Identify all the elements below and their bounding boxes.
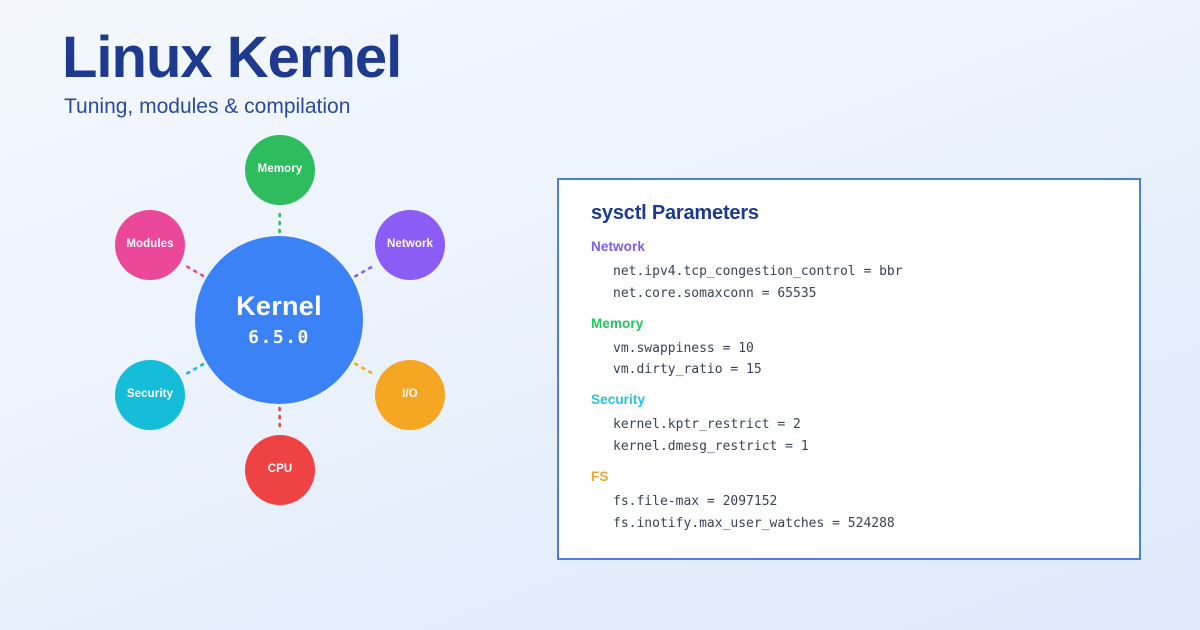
sysctl-group-name: Network: [591, 239, 1111, 254]
edge-modules: [184, 265, 203, 276]
edge-i-o: [355, 364, 376, 376]
center-node-label: Kernel: [236, 292, 322, 322]
sysctl-groups: Networknet.ipv4.tcp_congestion_control =…: [591, 239, 1111, 535]
node-label: I/O: [399, 388, 421, 401]
sysctl-parameter-line: vm.swappiness = 10: [613, 338, 1111, 360]
node-security[interactable]: Security: [115, 360, 185, 430]
sysctl-group-lines: vm.swappiness = 10vm.dirty_ratio = 15: [591, 338, 1111, 382]
node-label: CPU: [265, 463, 296, 476]
kernel-node-diagram: Kernel 6.5.0 MemoryNetworkI/OCPUSecurity…: [60, 128, 500, 528]
node-modules[interactable]: Modules: [115, 210, 185, 280]
node-network[interactable]: Network: [375, 210, 445, 280]
sysctl-panel: sysctl Parameters Networknet.ipv4.tcp_co…: [557, 178, 1141, 560]
sysctl-group-name: FS: [591, 469, 1111, 484]
sysctl-group: Networknet.ipv4.tcp_congestion_control =…: [591, 239, 1111, 305]
node-cpu[interactable]: CPU: [245, 435, 315, 505]
sysctl-group-lines: fs.file-max = 2097152fs.inotify.max_user…: [591, 491, 1111, 535]
node-kernel-center[interactable]: Kernel 6.5.0: [195, 236, 363, 404]
center-node-version: 6.5.0: [248, 327, 310, 348]
poster-canvas: Linux Kernel Tuning, modules & compilati…: [0, 0, 1200, 630]
sysctl-group-lines: kernel.kptr_restrict = 2kernel.dmesg_res…: [591, 414, 1111, 458]
sysctl-group: Memoryvm.swappiness = 10vm.dirty_ratio =…: [591, 316, 1111, 382]
sysctl-panel-inner: sysctl Parameters Networknet.ipv4.tcp_co…: [559, 180, 1139, 553]
node-i-o[interactable]: I/O: [375, 360, 445, 430]
sysctl-parameter-line: fs.inotify.max_user_watches = 524288: [613, 513, 1111, 535]
edge-network: [355, 264, 376, 276]
header: Linux Kernel Tuning, modules & compilati…: [62, 28, 401, 119]
node-label: Modules: [123, 238, 176, 251]
sysctl-group: Securitykernel.kptr_restrict = 2kernel.d…: [591, 392, 1111, 458]
sysctl-parameter-line: net.ipv4.tcp_congestion_control = bbr: [613, 261, 1111, 283]
sysctl-group: FSfs.file-max = 2097152fs.inotify.max_us…: [591, 469, 1111, 535]
sysctl-group-name: Memory: [591, 316, 1111, 331]
edge-security: [184, 364, 203, 375]
sysctl-group-lines: net.ipv4.tcp_congestion_control = bbrnet…: [591, 261, 1111, 305]
sysctl-parameter-line: net.core.somaxconn = 65535: [613, 283, 1111, 305]
page-subtitle: Tuning, modules & compilation: [64, 95, 401, 119]
node-memory[interactable]: Memory: [245, 135, 315, 205]
node-label: Memory: [255, 163, 306, 176]
sysctl-parameter-line: kernel.dmesg_restrict = 1: [613, 436, 1111, 458]
page-title: Linux Kernel: [62, 28, 401, 89]
sysctl-parameter-line: vm.dirty_ratio = 15: [613, 359, 1111, 381]
sysctl-group-name: Security: [591, 392, 1111, 407]
sysctl-parameter-line: fs.file-max = 2097152: [613, 491, 1111, 513]
node-label: Security: [124, 388, 176, 401]
sysctl-parameter-line: kernel.kptr_restrict = 2: [613, 414, 1111, 436]
node-label: Network: [384, 238, 436, 251]
sysctl-panel-title: sysctl Parameters: [591, 202, 1111, 225]
